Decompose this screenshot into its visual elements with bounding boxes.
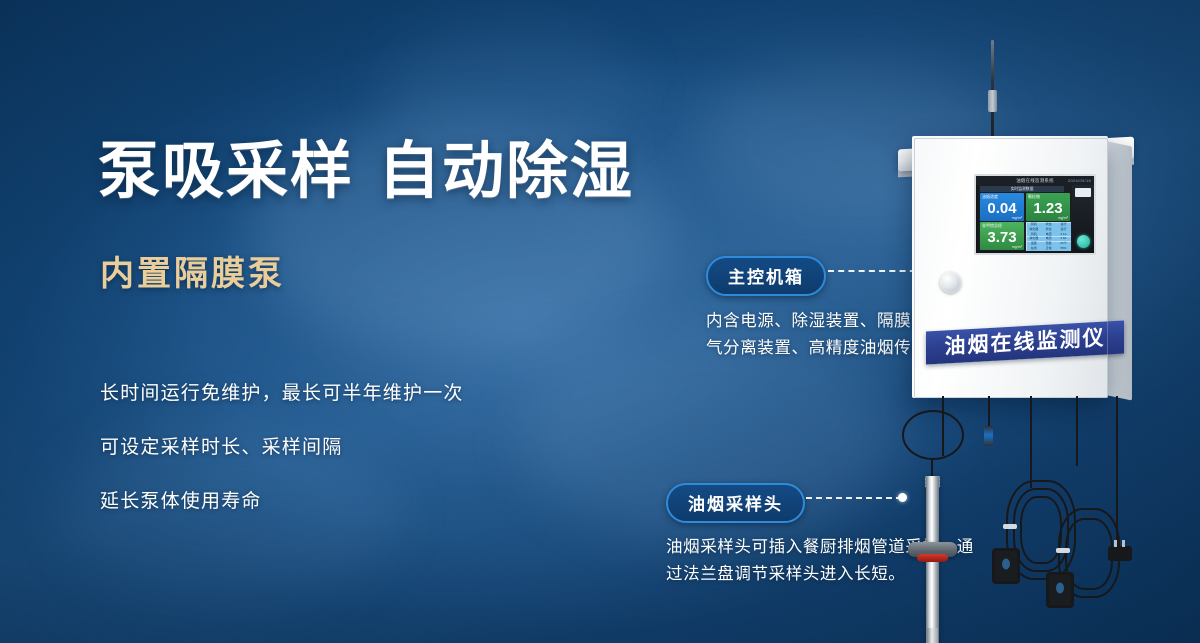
device-illustration: 油烟在线监测系统 2024/09/18 实时监测数据 油烟浓度 0.04 mg/… bbox=[880, 28, 1200, 643]
probe-tip bbox=[927, 628, 938, 643]
headline-part-1: 泵吸采样 bbox=[98, 137, 354, 206]
cabinet-door-seam bbox=[914, 138, 1108, 398]
cable-coil bbox=[1020, 496, 1062, 564]
cable-tie bbox=[1056, 548, 1070, 553]
cable bbox=[1076, 396, 1078, 466]
feature-bullet: 长时间运行免维护，最长可半年维护一次 bbox=[100, 378, 620, 405]
headline: 泵吸采样自动除湿 bbox=[98, 140, 634, 203]
probe-seal-ring bbox=[917, 554, 948, 562]
cable bbox=[988, 396, 990, 430]
feature-bullet: 延长泵体使用寿命 bbox=[100, 486, 620, 513]
cable-connector bbox=[984, 426, 993, 446]
promotional-banner: 泵吸采样自动除湿 内置隔膜泵 长时间运行免维护，最长可半年维护一次 可设定采样时… bbox=[0, 0, 1200, 643]
feature-bullet-list: 长时间运行免维护，最长可半年维护一次 可设定采样时长、采样间隔 延长泵体使用寿命 bbox=[100, 378, 620, 540]
antenna-segment bbox=[988, 90, 997, 112]
probe-cable-lead bbox=[931, 458, 933, 478]
cable bbox=[1116, 396, 1118, 546]
cable bbox=[1030, 396, 1032, 488]
subheadline: 内置隔膜泵 bbox=[100, 246, 285, 295]
power-plug bbox=[1108, 546, 1132, 561]
current-transformer-clamp bbox=[992, 548, 1020, 584]
cabinet-side-panel bbox=[1108, 141, 1132, 400]
headline-part-2: 自动除湿 bbox=[378, 137, 634, 206]
cable-coil bbox=[902, 410, 964, 460]
current-transformer-clamp bbox=[1046, 572, 1074, 608]
cable-tie bbox=[1003, 524, 1017, 529]
callout-label-main-cabinet: 主控机箱 bbox=[706, 256, 826, 296]
feature-bullet: 可设定采样时长、采样间隔 bbox=[100, 432, 620, 459]
callout-label-sampling-probe: 油烟采样头 bbox=[666, 483, 805, 523]
oil-fume-sampling-probe bbox=[900, 458, 970, 643]
